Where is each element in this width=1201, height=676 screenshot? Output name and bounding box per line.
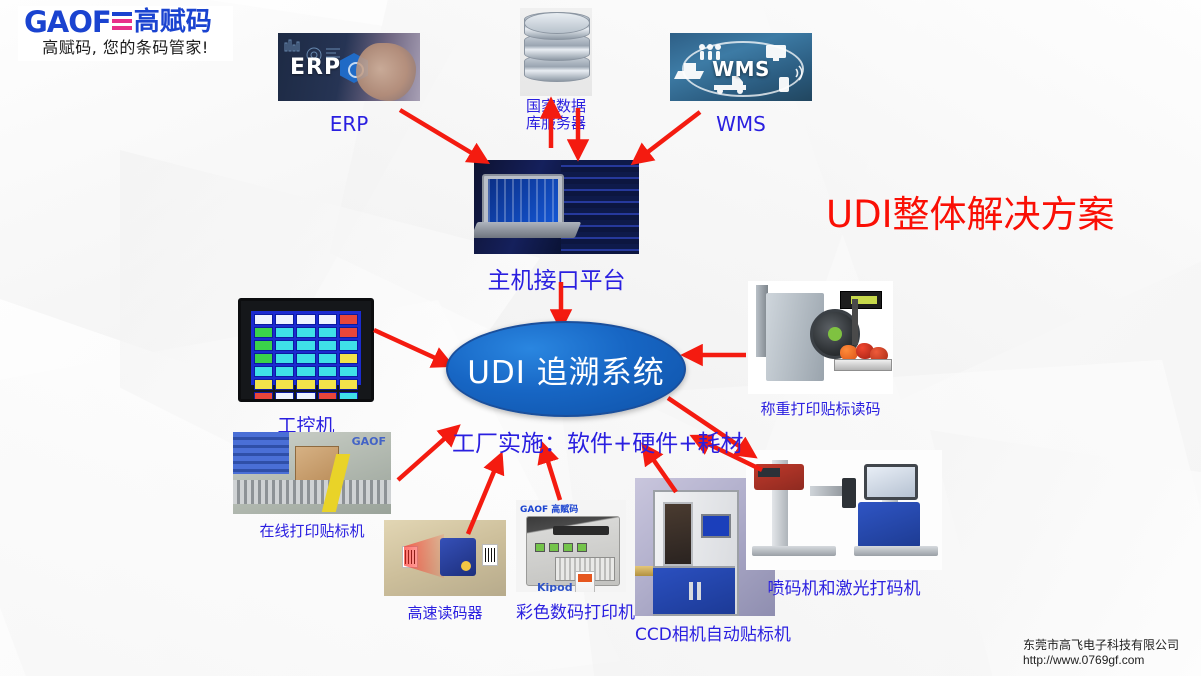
logo-latin-text: GAOF <box>24 8 111 37</box>
arrow-reader-to-factory <box>468 462 498 534</box>
arrow-ccd-to-factory <box>648 452 676 492</box>
central-system-node[interactable]: UDI 追溯系统 <box>446 321 686 417</box>
arrow-ipc-to-center <box>374 330 444 362</box>
footer-url[interactable]: http://www.0769gf.com <box>1023 653 1179 668</box>
company-logo: GAOF 高赋码 高赋码, 您的条码管家! <box>18 6 233 61</box>
arrow-wms-to-host <box>640 112 700 158</box>
central-system-label: UDI 追溯系统 <box>467 347 665 392</box>
footer: 东莞市高飞电子科技有限公司 http://www.0769gf.com <box>1023 638 1179 668</box>
logo-wordmark: GAOF 高赋码 <box>18 6 233 38</box>
barcode-icon <box>112 11 132 33</box>
logo-chinese-text: 高赋码 <box>134 8 212 36</box>
factory-implementation-label: 工厂实施：软件+硬件+耗材 <box>452 424 744 458</box>
arrow-cprinter-to-factory <box>545 452 560 500</box>
slide-canvas: GAOF 高赋码 高赋码, 您的条码管家! UDI整体解决方案 ERP ERP <box>0 0 1201 676</box>
page-title: UDI整体解决方案 <box>826 184 1114 238</box>
logo-tagline: 高赋码, 您的条码管家! <box>18 38 233 58</box>
footer-company: 东莞市高飞电子科技有限公司 <box>1023 638 1179 653</box>
arrow-online-to-factory <box>398 432 452 480</box>
arrow-erp-to-host <box>400 110 480 158</box>
